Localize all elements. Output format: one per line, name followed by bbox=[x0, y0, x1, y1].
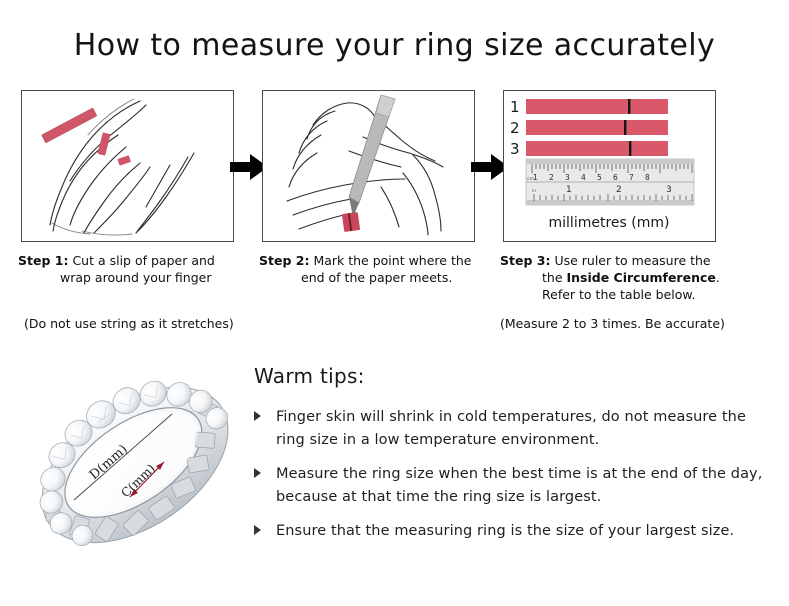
step-3-line2: the Inside Circumference. bbox=[500, 269, 758, 286]
tip-item: Measure the ring size when the best time… bbox=[254, 463, 766, 509]
svg-text:3: 3 bbox=[565, 173, 570, 182]
step-1-lead: Step 1: bbox=[18, 253, 68, 268]
step-1-illustration-panel bbox=[21, 90, 234, 242]
steps-row: 1 2 3 bbox=[0, 90, 789, 250]
step-1-note: (Do not use string as it stretches) bbox=[24, 316, 234, 331]
step-3-line1: Use ruler to measure the bbox=[554, 253, 710, 268]
step-2-line1: Mark the point where the bbox=[313, 253, 471, 268]
page-title: How to measure your ring size accurately bbox=[0, 28, 789, 63]
strip-label-3: 3 bbox=[510, 140, 520, 158]
step-3-caption: Step 3: Use ruler to measure the the Ins… bbox=[500, 252, 758, 303]
ruler-cm-label: cm bbox=[527, 177, 534, 182]
step-2-illustration-panel bbox=[262, 90, 475, 242]
svg-text:6: 6 bbox=[613, 173, 618, 182]
step-3-line3: Refer to the table below. bbox=[500, 286, 758, 303]
ruler-inch-label: in bbox=[532, 188, 536, 194]
strip-label-1: 1 bbox=[510, 98, 520, 116]
step-3-lead: Step 3: bbox=[500, 253, 550, 268]
triangle-bullet-icon bbox=[254, 411, 261, 421]
svg-text:3: 3 bbox=[666, 185, 672, 195]
tip-item: Ensure that the measuring ring is the si… bbox=[254, 520, 766, 543]
eternity-ring-diagram: D(mm) C(mm) bbox=[22, 352, 248, 578]
tip-text: Finger skin will shrink in cold temperat… bbox=[276, 409, 746, 448]
paper-strips-group bbox=[526, 99, 668, 156]
svg-text:2: 2 bbox=[549, 173, 554, 182]
hand-marking-with-pencil-drawing bbox=[263, 91, 474, 241]
tip-text: Ensure that the measuring ring is the si… bbox=[276, 523, 734, 539]
step-2-caption: Step 2: Mark the point where the end of … bbox=[259, 252, 497, 286]
svg-text:5: 5 bbox=[597, 173, 602, 182]
tip-text: Measure the ring size when the best time… bbox=[276, 466, 762, 505]
step-1-caption: Step 1: Cut a slip of paper and wrap aro… bbox=[18, 252, 256, 286]
tip-item: Finger skin will shrink in cold temperat… bbox=[254, 406, 766, 452]
ruler-shape: 123 456 78 cm 123 in bbox=[526, 159, 694, 205]
triangle-bullet-icon bbox=[254, 468, 261, 478]
step-3-illustration-panel: 1 2 3 bbox=[503, 90, 716, 242]
svg-text:7: 7 bbox=[629, 173, 634, 182]
ring-figure: D(mm) C(mm) bbox=[22, 352, 248, 578]
paper-strip-shape bbox=[42, 108, 97, 143]
paper-strip-mark bbox=[342, 212, 360, 232]
hand-with-paper-strip-drawing bbox=[22, 91, 233, 241]
warm-tips-heading: Warm tips: bbox=[254, 364, 766, 388]
svg-text:8: 8 bbox=[645, 173, 650, 182]
step-3-note: (Measure 2 to 3 times. Be accurate) bbox=[500, 316, 725, 331]
warm-tips-section: Warm tips: Finger skin will shrink in co… bbox=[254, 364, 766, 554]
step-3-inside-circumference: Inside Circumference bbox=[567, 270, 716, 285]
svg-text:1: 1 bbox=[566, 185, 572, 195]
step-2-lead: Step 2: bbox=[259, 253, 309, 268]
step-1-line2: wrap around your finger bbox=[18, 269, 256, 286]
step-3-line2-suffix: . bbox=[716, 270, 720, 285]
svg-text:4: 4 bbox=[581, 173, 586, 182]
step-1-line1: Cut a slip of paper and bbox=[72, 253, 214, 268]
svg-text:2: 2 bbox=[616, 185, 622, 195]
step-2-line2: end of the paper meets. bbox=[259, 269, 497, 286]
step-3-line2-prefix: the bbox=[542, 270, 567, 285]
strip-label-2: 2 bbox=[510, 119, 520, 137]
ruler-unit-caption: millimetres (mm) bbox=[549, 215, 670, 231]
paper-strips-with-ruler-drawing: 1 2 3 bbox=[504, 91, 715, 241]
triangle-bullet-icon bbox=[254, 525, 261, 535]
